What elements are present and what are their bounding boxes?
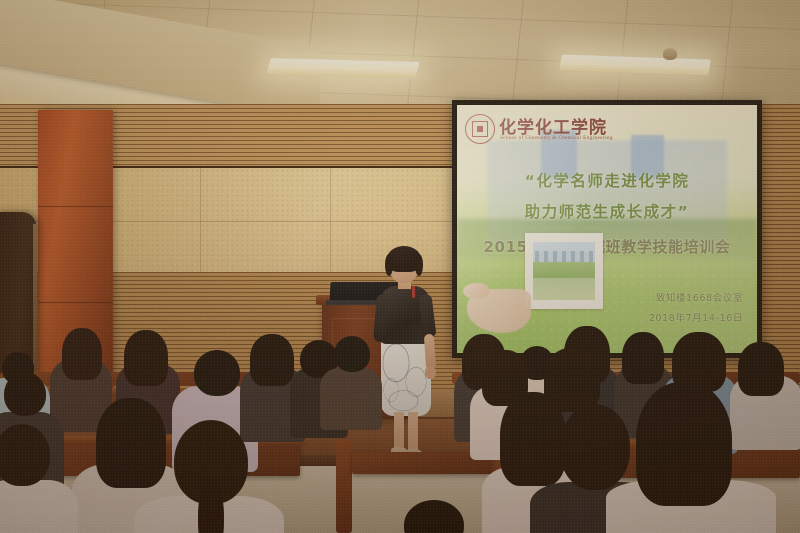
presenter-hand (425, 366, 436, 379)
column-seam (38, 302, 113, 303)
slide-venue: 致知楼1668会议室 (656, 290, 743, 304)
attendee-hair (62, 328, 102, 380)
attendee-head (194, 350, 240, 396)
photo-trees (533, 262, 595, 279)
presenter-leg (394, 412, 404, 450)
stucco-seam (200, 168, 201, 276)
attendee-hair (96, 398, 166, 488)
presenter (372, 250, 442, 470)
attendee-ponytail (198, 482, 224, 533)
microphone-icon (412, 286, 415, 298)
attendee-head (560, 404, 630, 490)
attendee-body (320, 368, 382, 430)
stucco-seam (330, 168, 331, 276)
university-seal-icon (465, 114, 495, 144)
attendee-hair (738, 342, 784, 396)
slide-photo-image (533, 242, 595, 300)
attendee-hair (622, 332, 664, 384)
presenter-forearm (424, 334, 436, 371)
slide-date: 2018年7月14-16日 (649, 310, 743, 324)
attendee-head (4, 372, 46, 416)
slide-title-line-1: “化学名师走进化学院 (457, 169, 757, 191)
attendee-hair (250, 334, 294, 386)
attendee-hair (500, 392, 566, 486)
projection-screen-frame: 化学化工学院 School of Chemistry & Chemical En… (452, 100, 762, 358)
presenter-leg (408, 412, 418, 452)
slide-subtitle: 2015级化学卓越班教学技能培训会 (457, 236, 757, 257)
slide-photo-card (525, 233, 603, 309)
smoke-detector-icon (663, 48, 677, 60)
presenter-hair-side (385, 254, 393, 276)
slide-title-line-2: 助力师范生成长成才” (457, 200, 757, 222)
projection-screen: 化学化工学院 School of Chemistry & Chemical En… (457, 105, 757, 353)
lecture-hall-photo: 化学化工学院 School of Chemistry & Chemical En… (0, 0, 800, 533)
column-seam (38, 206, 113, 207)
slide-logo-english: School of Chemistry & Chemical Engineeri… (500, 135, 613, 141)
presenter-hair-side (415, 254, 423, 276)
attendee-body (0, 480, 78, 533)
attendee-head (334, 336, 370, 372)
aisle-post (336, 440, 352, 533)
slide-thumb (463, 283, 489, 299)
attendee-head (0, 424, 50, 486)
photo-water (533, 278, 595, 300)
presenter-skirt (381, 340, 431, 416)
attendee-hair (636, 382, 732, 506)
attendee-hair (124, 330, 168, 386)
